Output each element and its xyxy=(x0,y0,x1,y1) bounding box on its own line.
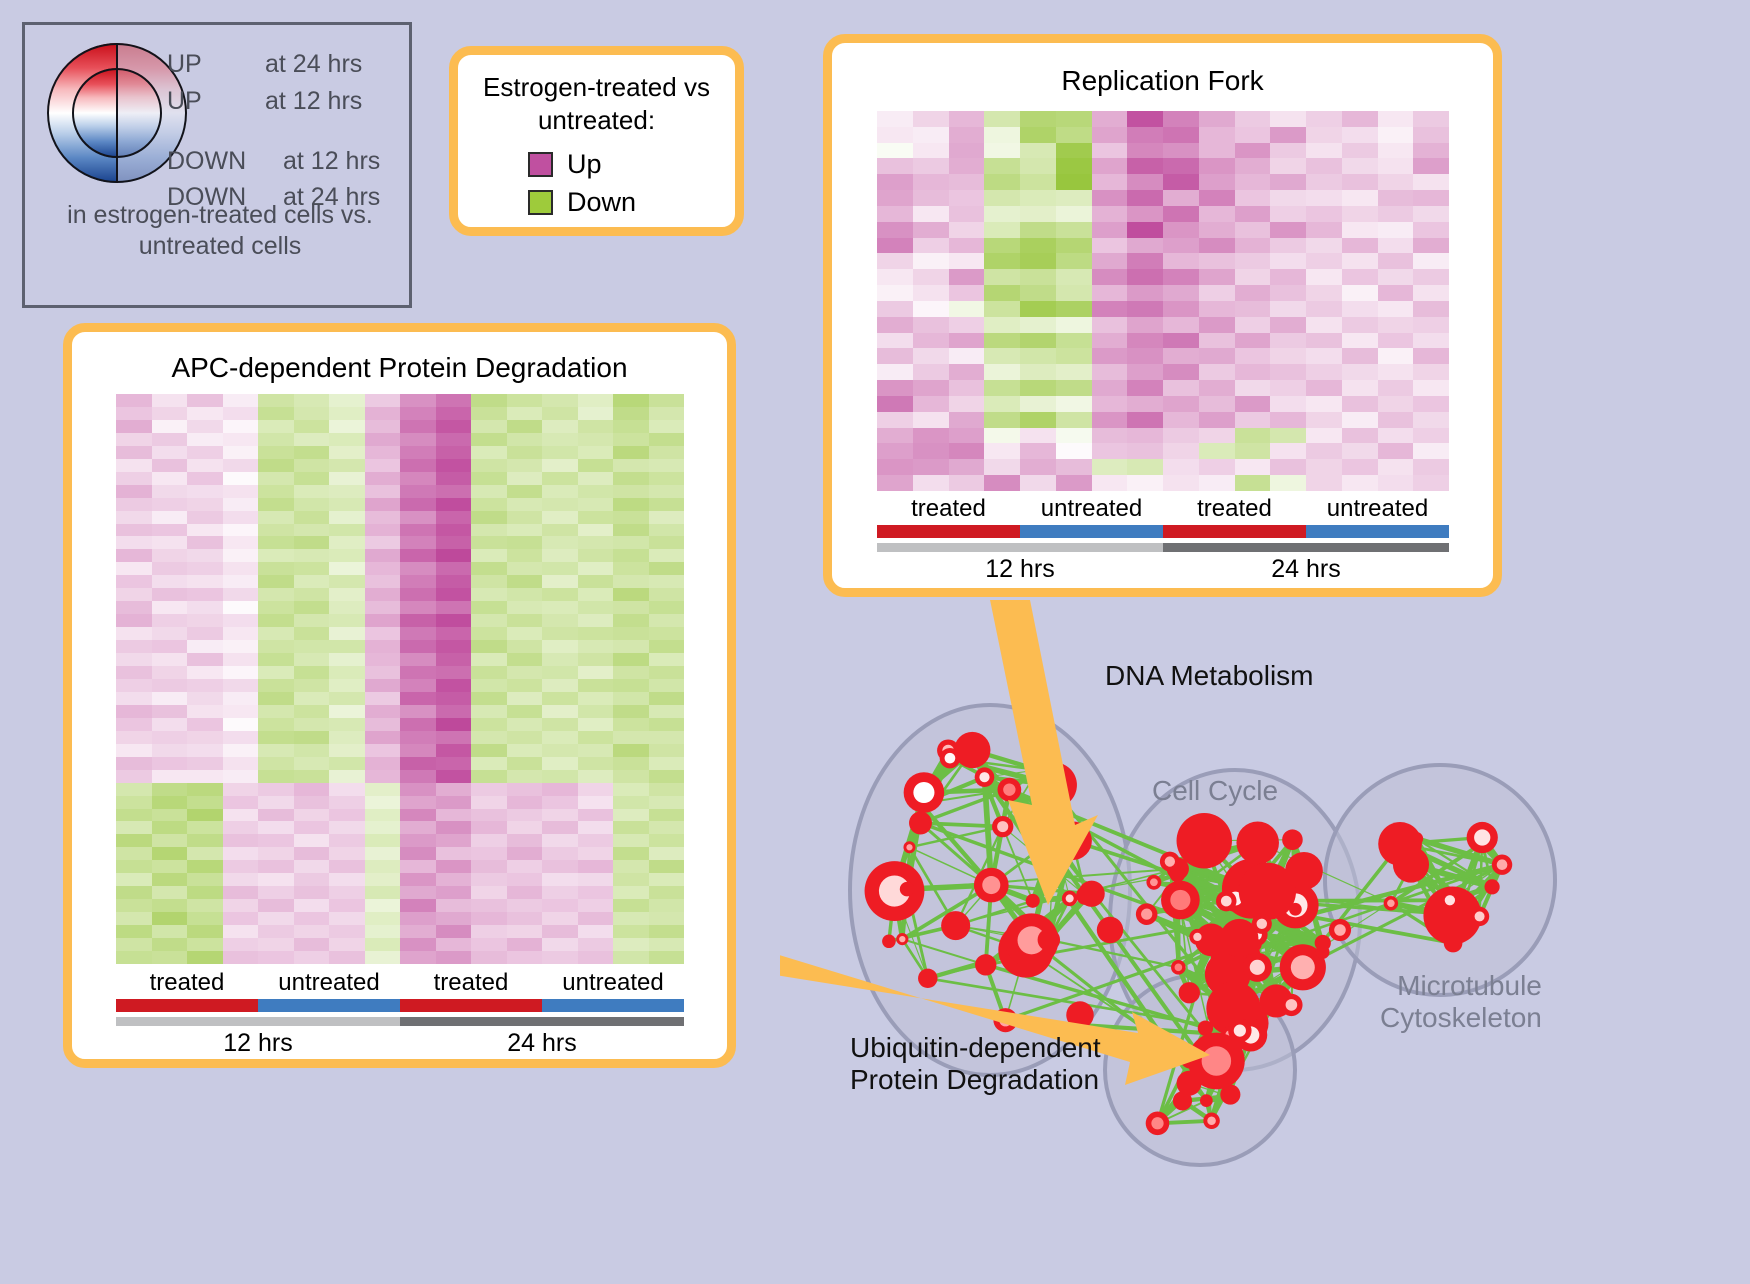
heatmap-cell xyxy=(187,524,223,537)
heatmap-cell xyxy=(1127,348,1163,364)
heatmap-cell xyxy=(436,770,472,783)
heatmap-cell xyxy=(1199,174,1235,190)
heatmap-cell xyxy=(613,821,649,834)
heatmap-cell xyxy=(578,653,614,666)
heatmap-cell xyxy=(471,485,507,498)
heatmap-cell xyxy=(507,692,543,705)
heatmap-cell xyxy=(1020,333,1056,349)
heatmap-cell xyxy=(877,396,913,412)
heatmap-cell xyxy=(436,744,472,757)
heatmap-cell xyxy=(1092,412,1128,428)
heatmap-cell xyxy=(152,549,188,562)
heatmap-cell xyxy=(471,614,507,627)
network-node[interactable] xyxy=(1378,822,1422,866)
heatmap-cell xyxy=(294,757,330,770)
condition-label-1: untreated xyxy=(1020,495,1163,523)
heatmap-cell xyxy=(294,562,330,575)
key-panel-title: Estrogen-treated vs untreated: xyxy=(458,71,735,136)
heatmap-cell xyxy=(578,472,614,485)
heatmap-cell xyxy=(1306,443,1342,459)
down-color-swatch xyxy=(528,190,553,215)
heatmap-cell xyxy=(294,407,330,420)
heatmap-cell xyxy=(1342,222,1378,238)
heatmap-cell xyxy=(913,238,949,254)
heatmap-cell xyxy=(542,809,578,822)
heatmap-cell xyxy=(329,679,365,692)
heatmap-cell xyxy=(329,575,365,588)
heatmap-cell xyxy=(436,446,472,459)
heatmap-cell xyxy=(294,640,330,653)
heatmap-cell xyxy=(258,407,294,420)
heatmap-cell xyxy=(400,459,436,472)
heatmap-cell xyxy=(329,886,365,899)
heatmap-cell xyxy=(400,498,436,511)
heatmap-cell xyxy=(507,407,543,420)
heatmap-cell xyxy=(649,731,685,744)
heatmap-cell xyxy=(152,770,188,783)
heatmap-cell xyxy=(1163,412,1199,428)
heatmap-cell xyxy=(1413,206,1449,222)
heatmap-cell xyxy=(578,718,614,731)
heatmap-cell xyxy=(294,446,330,459)
heatmap-cell xyxy=(578,666,614,679)
heatmap-cell xyxy=(1270,174,1306,190)
heatmap-cell xyxy=(1235,158,1271,174)
heatmap-cell xyxy=(294,692,330,705)
heatmap-cell xyxy=(187,899,223,912)
heatmap-cell xyxy=(913,412,949,428)
heatmap-cell xyxy=(471,640,507,653)
heatmap-cell xyxy=(578,951,614,964)
heatmap-cell xyxy=(294,433,330,446)
heatmap-cell xyxy=(984,158,1020,174)
heatmap-cell xyxy=(258,498,294,511)
heatmap-cell xyxy=(329,757,365,770)
heatmap-cell xyxy=(507,886,543,899)
heatmap-cell xyxy=(116,640,152,653)
heatmap-cell xyxy=(471,860,507,873)
heatmap-cell xyxy=(365,809,401,822)
heatmap-cell xyxy=(365,873,401,886)
heatmap-cell xyxy=(613,459,649,472)
heatmap-cell xyxy=(1378,396,1414,412)
heatmap-cell xyxy=(1127,364,1163,380)
heatmap-cell xyxy=(223,562,259,575)
heatmap-cell xyxy=(613,666,649,679)
timepoint-color-0 xyxy=(877,543,1163,552)
heatmap-cell xyxy=(1270,269,1306,285)
heatmap-cell xyxy=(436,407,472,420)
network-node[interactable] xyxy=(1076,886,1095,905)
heatmap-cell xyxy=(471,951,507,964)
heatmap-cell xyxy=(152,420,188,433)
heatmap-cell xyxy=(1235,222,1271,238)
heatmap-cell xyxy=(984,206,1020,222)
network-node[interactable] xyxy=(954,732,990,768)
heatmap-cell xyxy=(223,731,259,744)
heatmap-cell xyxy=(365,446,401,459)
heatmap-cell xyxy=(507,394,543,407)
heatmap-cell xyxy=(1342,348,1378,364)
heatmap-cell xyxy=(1056,317,1092,333)
heatmap-cell xyxy=(578,420,614,433)
heatmap-cell xyxy=(400,420,436,433)
heatmap-cell xyxy=(400,536,436,549)
heatmap-cell xyxy=(1378,428,1414,444)
heatmap-cell xyxy=(984,127,1020,143)
network-node[interactable] xyxy=(1282,829,1303,850)
heatmap-cell xyxy=(1163,206,1199,222)
network-node[interactable] xyxy=(941,911,970,940)
heatmap-cell xyxy=(949,380,985,396)
heatmap-cell xyxy=(1378,443,1414,459)
heatmap-cell xyxy=(471,796,507,809)
heatmap-cell xyxy=(152,640,188,653)
network-node[interactable] xyxy=(1038,929,1060,951)
heatmap-cell xyxy=(258,847,294,860)
heatmap-cell xyxy=(436,912,472,925)
heatmap-cell xyxy=(116,459,152,472)
heatmap-cell xyxy=(116,834,152,847)
heatmap-cell xyxy=(365,847,401,860)
network-node[interactable] xyxy=(1484,879,1499,894)
heatmap-cell xyxy=(436,524,472,537)
heatmap-cell xyxy=(1235,269,1271,285)
heatmap-cell xyxy=(1163,174,1199,190)
heatmap-cell xyxy=(258,886,294,899)
heatmap-cell xyxy=(471,899,507,912)
network-node[interactable] xyxy=(1315,935,1331,951)
heatmap-cell xyxy=(436,718,472,731)
heatmap-cell xyxy=(1056,143,1092,159)
heatmap-cell xyxy=(116,562,152,575)
heatmap-cell xyxy=(152,951,188,964)
heatmap-cell xyxy=(984,364,1020,380)
heatmap-cell xyxy=(471,744,507,757)
heatmap-cell xyxy=(1270,190,1306,206)
heatmap-cell xyxy=(471,562,507,575)
heatmap-cell xyxy=(1092,364,1128,380)
heatmap-cell xyxy=(1270,380,1306,396)
heatmap-cell xyxy=(365,744,401,757)
cluster-label-ubiquitin-degradation: Ubiquitin-dependent Protein Degradation xyxy=(850,1032,1101,1096)
network-node[interactable] xyxy=(1026,894,1040,908)
heatmap-cell xyxy=(649,575,685,588)
network-node[interactable] xyxy=(1179,982,1200,1003)
heatmap-cell xyxy=(471,549,507,562)
heatmap-cell xyxy=(1199,475,1235,491)
heatmap-cell xyxy=(294,951,330,964)
heatmap-cell xyxy=(1342,333,1378,349)
heatmap-cell xyxy=(913,428,949,444)
heatmap-cell xyxy=(507,601,543,614)
heatmap-cell xyxy=(365,770,401,783)
network-node[interactable] xyxy=(1221,1088,1236,1103)
network-node-core xyxy=(1207,1116,1216,1125)
heatmap-cell xyxy=(949,364,985,380)
heatmap-cell xyxy=(649,938,685,951)
heatmap-cell xyxy=(949,428,985,444)
heatmap-cell xyxy=(471,873,507,886)
heatmap-cell xyxy=(507,614,543,627)
heatmap-cell xyxy=(578,770,614,783)
heatmap-cell xyxy=(949,143,985,159)
network-node[interactable] xyxy=(1236,822,1279,865)
heatmap-cell xyxy=(152,847,188,860)
heatmap-cell xyxy=(1092,269,1128,285)
heatmap-cell xyxy=(507,809,543,822)
heatmap-cell xyxy=(578,731,614,744)
heatmap-cell xyxy=(578,524,614,537)
heatmap-cell xyxy=(507,485,543,498)
heatmap-cell xyxy=(613,640,649,653)
replication-fork-condition-labels: treateduntreatedtreateduntreated xyxy=(877,495,1449,523)
heatmap-cell xyxy=(913,190,949,206)
network-node[interactable] xyxy=(918,969,937,988)
apc-condition-labels: treateduntreatedtreateduntreated xyxy=(116,969,684,997)
heatmap-cell xyxy=(1127,190,1163,206)
heatmap-cell xyxy=(542,899,578,912)
heatmap-cell xyxy=(258,640,294,653)
heatmap-cell xyxy=(116,938,152,951)
heatmap-cell xyxy=(578,498,614,511)
heatmap-cell xyxy=(187,627,223,640)
heatmap-cell xyxy=(294,679,330,692)
heatmap-cell xyxy=(258,562,294,575)
heatmap-cell xyxy=(187,446,223,459)
heatmap-cell xyxy=(1306,380,1342,396)
heatmap-cell xyxy=(152,588,188,601)
network-node[interactable] xyxy=(882,934,896,948)
apc-heatmap xyxy=(116,394,684,964)
heatmap-cell xyxy=(1413,364,1449,380)
heatmap-cell xyxy=(1378,459,1414,475)
heatmap-cell xyxy=(223,847,259,860)
network-node-core xyxy=(982,876,1000,894)
heatmap-cell xyxy=(649,951,685,964)
heatmap-cell xyxy=(223,588,259,601)
heatmap-cell xyxy=(1199,143,1235,159)
network-node-core xyxy=(1003,783,1015,795)
heatmap-cell xyxy=(1413,348,1449,364)
heatmap-cell xyxy=(1413,428,1449,444)
heatmap-cell xyxy=(1342,317,1378,333)
heatmap-cell xyxy=(187,938,223,951)
heatmap-cell xyxy=(649,912,685,925)
heatmap-cell xyxy=(365,627,401,640)
network-node[interactable] xyxy=(900,882,915,897)
heatmap-cell xyxy=(294,796,330,809)
heatmap-cell xyxy=(649,783,685,796)
heatmap-cell xyxy=(613,575,649,588)
heatmap-cell xyxy=(294,536,330,549)
condition-color-2 xyxy=(400,999,542,1012)
heatmap-cell xyxy=(258,536,294,549)
heatmap-cell xyxy=(223,524,259,537)
heatmap-cell xyxy=(329,925,365,938)
heatmap-cell xyxy=(187,705,223,718)
heatmap-cell xyxy=(329,614,365,627)
network-node-core xyxy=(1250,960,1265,975)
heatmap-cell xyxy=(294,821,330,834)
heatmap-cell xyxy=(1056,253,1092,269)
wheel-row-0-time: at 24 hrs xyxy=(265,50,362,79)
heatmap-cell xyxy=(913,364,949,380)
heatmap-cell xyxy=(578,536,614,549)
heatmap-cell xyxy=(1235,238,1271,254)
heatmap-cell xyxy=(1270,348,1306,364)
heatmap-cell xyxy=(507,433,543,446)
color-wheel-diagram xyxy=(47,43,187,183)
heatmap-cell xyxy=(365,640,401,653)
network-node[interactable] xyxy=(1289,903,1302,916)
heatmap-cell xyxy=(542,407,578,420)
heatmap-cell xyxy=(507,873,543,886)
heatmap-cell xyxy=(223,757,259,770)
network-node[interactable] xyxy=(909,812,932,835)
heatmap-cell xyxy=(152,912,188,925)
heatmap-cell xyxy=(1378,364,1414,380)
heatmap-cell xyxy=(1020,127,1056,143)
heatmap-cell xyxy=(542,511,578,524)
heatmap-cell xyxy=(187,679,223,692)
heatmap-cell xyxy=(258,614,294,627)
heatmap-cell xyxy=(1199,190,1235,206)
heatmap-cell xyxy=(436,536,472,549)
heatmap-cell xyxy=(1413,412,1449,428)
heatmap-cell xyxy=(613,562,649,575)
heatmap-cell xyxy=(1020,459,1056,475)
timepoint-label-0: 12 hrs xyxy=(877,555,1163,584)
heatmap-cell xyxy=(507,860,543,873)
heatmap-cell xyxy=(400,770,436,783)
heatmap-cell xyxy=(223,394,259,407)
network-node[interactable] xyxy=(975,954,996,975)
network-node-core xyxy=(1234,1025,1246,1037)
network-node-core xyxy=(899,936,905,942)
heatmap-cell xyxy=(1270,412,1306,428)
heatmap-cell xyxy=(223,614,259,627)
heatmap-cell xyxy=(949,285,985,301)
heatmap-cell xyxy=(984,443,1020,459)
heatmap-cell xyxy=(877,301,913,317)
heatmap-cell xyxy=(542,601,578,614)
heatmap-cell xyxy=(471,757,507,770)
heatmap-cell xyxy=(152,757,188,770)
heatmap-cell xyxy=(1199,364,1235,380)
heatmap-cell xyxy=(116,951,152,964)
heatmap-cell xyxy=(294,718,330,731)
heatmap-cell xyxy=(649,821,685,834)
heatmap-cell xyxy=(116,873,152,886)
heatmap-cell xyxy=(649,796,685,809)
heatmap-cell xyxy=(400,912,436,925)
heatmap-cell xyxy=(187,886,223,899)
heatmap-cell xyxy=(1056,364,1092,380)
network-node[interactable] xyxy=(1097,917,1123,943)
heatmap-cell xyxy=(507,536,543,549)
heatmap-cell xyxy=(152,718,188,731)
heatmap-cell xyxy=(1092,348,1128,364)
heatmap-cell xyxy=(436,925,472,938)
heatmap-cell xyxy=(223,433,259,446)
heatmap-cell xyxy=(1413,396,1449,412)
heatmap-cell xyxy=(578,601,614,614)
heatmap-cell xyxy=(1127,269,1163,285)
network-node[interactable] xyxy=(1200,1094,1213,1107)
heatmap-cell xyxy=(1306,348,1342,364)
heatmap-cell xyxy=(116,407,152,420)
heatmap-cell xyxy=(116,394,152,407)
heatmap-cell xyxy=(329,796,365,809)
heatmap-cell xyxy=(1235,443,1271,459)
heatmap-cell xyxy=(1270,253,1306,269)
heatmap-cell xyxy=(542,640,578,653)
heatmap-cell xyxy=(1163,443,1199,459)
heatmap-cell xyxy=(365,420,401,433)
heatmap-cell xyxy=(1270,206,1306,222)
heatmap-cell xyxy=(223,575,259,588)
condition-color-2 xyxy=(1163,525,1306,538)
heatmap-cell xyxy=(578,511,614,524)
heatmap-cell xyxy=(187,796,223,809)
heatmap-cell xyxy=(223,821,259,834)
heatmap-cell xyxy=(949,333,985,349)
heatmap-cell xyxy=(329,860,365,873)
heatmap-cell xyxy=(400,834,436,847)
heatmap-cell xyxy=(649,446,685,459)
heatmap-cell xyxy=(365,886,401,899)
network-node-core xyxy=(1151,1117,1163,1129)
heatmap-cell xyxy=(1306,396,1342,412)
heatmap-cell xyxy=(1199,285,1235,301)
heatmap-cell xyxy=(258,420,294,433)
heatmap-cell xyxy=(329,549,365,562)
heatmap-cell xyxy=(365,394,401,407)
heatmap-cell xyxy=(913,143,949,159)
apc-time-labels: 12 hrs24 hrs xyxy=(116,1029,684,1058)
heatmap-cell xyxy=(913,285,949,301)
heatmap-cell xyxy=(1306,428,1342,444)
heatmap-cell xyxy=(365,796,401,809)
heatmap-cell xyxy=(1056,475,1092,491)
heatmap-cell xyxy=(294,744,330,757)
heatmap-cell xyxy=(471,809,507,822)
heatmap-cell xyxy=(649,899,685,912)
heatmap-cell xyxy=(471,536,507,549)
heatmap-cell xyxy=(1199,380,1235,396)
heatmap-cell xyxy=(1413,317,1449,333)
heatmap-cell xyxy=(578,912,614,925)
heatmap-cell xyxy=(1378,238,1414,254)
heatmap-cell xyxy=(1092,459,1128,475)
timepoint-color-1 xyxy=(1163,543,1449,552)
network-node[interactable] xyxy=(1285,852,1323,890)
heatmap-cell xyxy=(223,692,259,705)
heatmap-cell xyxy=(436,692,472,705)
heatmap-cell xyxy=(1306,459,1342,475)
heatmap-cell xyxy=(365,614,401,627)
heatmap-cell xyxy=(542,614,578,627)
key-item-down: Down xyxy=(528,187,636,218)
heatmap-cell xyxy=(542,575,578,588)
heatmap-cell xyxy=(1020,428,1056,444)
heatmap-cell xyxy=(984,428,1020,444)
heatmap-cell xyxy=(258,873,294,886)
heatmap-cell xyxy=(152,809,188,822)
heatmap-cell xyxy=(613,809,649,822)
heatmap-cell xyxy=(613,511,649,524)
